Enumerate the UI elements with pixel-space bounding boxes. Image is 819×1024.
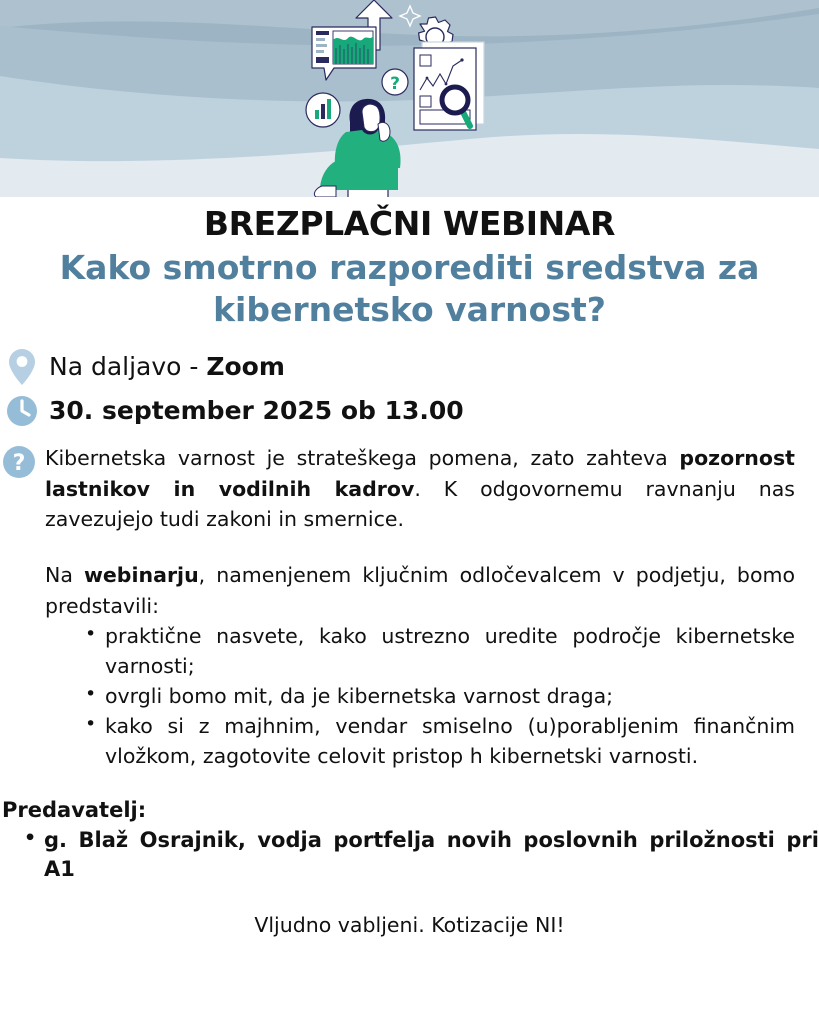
body-section: ? Kibernetska varnost je strateškega pom…	[0, 443, 819, 771]
bar-chart-circle-icon	[306, 93, 340, 127]
page-title: BREZPLAČNI WEBINAR	[0, 205, 819, 243]
bar-chart-bubble-icon	[312, 27, 376, 80]
title-block: BREZPLAČNI WEBINAR Kako smotrno razpored…	[0, 197, 819, 331]
list-item: kako si z majhnim, vendar smiselno (u)po…	[85, 712, 795, 772]
body-copy: Kibernetska varnost je strateškega pomen…	[0, 443, 819, 771]
sparkle-icon	[400, 6, 420, 26]
list-item: praktične nasvete, kako ustrezno uredite…	[85, 622, 795, 682]
question-mark-icon: ?	[382, 69, 408, 95]
event-info-rows: Na daljavo - Zoom 30. september 2025 ob …	[0, 345, 819, 433]
event-location-text: Na daljavo - Zoom	[49, 352, 285, 382]
document-line-chart-icon	[414, 42, 484, 130]
hero-illustration: ?	[290, 0, 510, 197]
presenter-section: Predavatelj: g. Blaž Osrajnik, vodja por…	[0, 798, 819, 886]
clock-icon	[4, 390, 40, 432]
event-datetime-row: 30. september 2025 ob 13.00	[0, 389, 819, 433]
event-datetime-text: 30. september 2025 ob 13.00	[49, 396, 464, 426]
question-circle-icon: ?	[2, 445, 36, 479]
paragraph-intro: Kibernetska varnost je strateškega pomen…	[45, 443, 795, 534]
paragraph-webinar: Na webinarju, namenjenem ključnim odloče…	[45, 560, 795, 621]
map-pin-icon	[4, 346, 40, 388]
presenter-label: Predavatelj:	[2, 798, 819, 822]
list-item: g. Blaž Osrajnik, vodja portfelja novih …	[22, 826, 819, 886]
page-subtitle: Kako smotrno razporediti sredstva za kib…	[0, 247, 819, 331]
event-location-row: Na daljavo - Zoom	[0, 345, 819, 389]
topic-bullet-list: praktične nasvete, kako ustrezno uredite…	[45, 622, 795, 772]
svg-text:?: ?	[390, 74, 400, 94]
presenter-list: g. Blaž Osrajnik, vodja portfelja novih …	[2, 826, 819, 886]
list-item: ovrgli bomo mit, da je kibernetska varno…	[85, 682, 795, 712]
footer-invite: Vljudno vabljeni. Kotizacije NI!	[0, 913, 819, 937]
svg-text:?: ?	[13, 451, 26, 476]
hero-banner: ?	[0, 0, 819, 197]
